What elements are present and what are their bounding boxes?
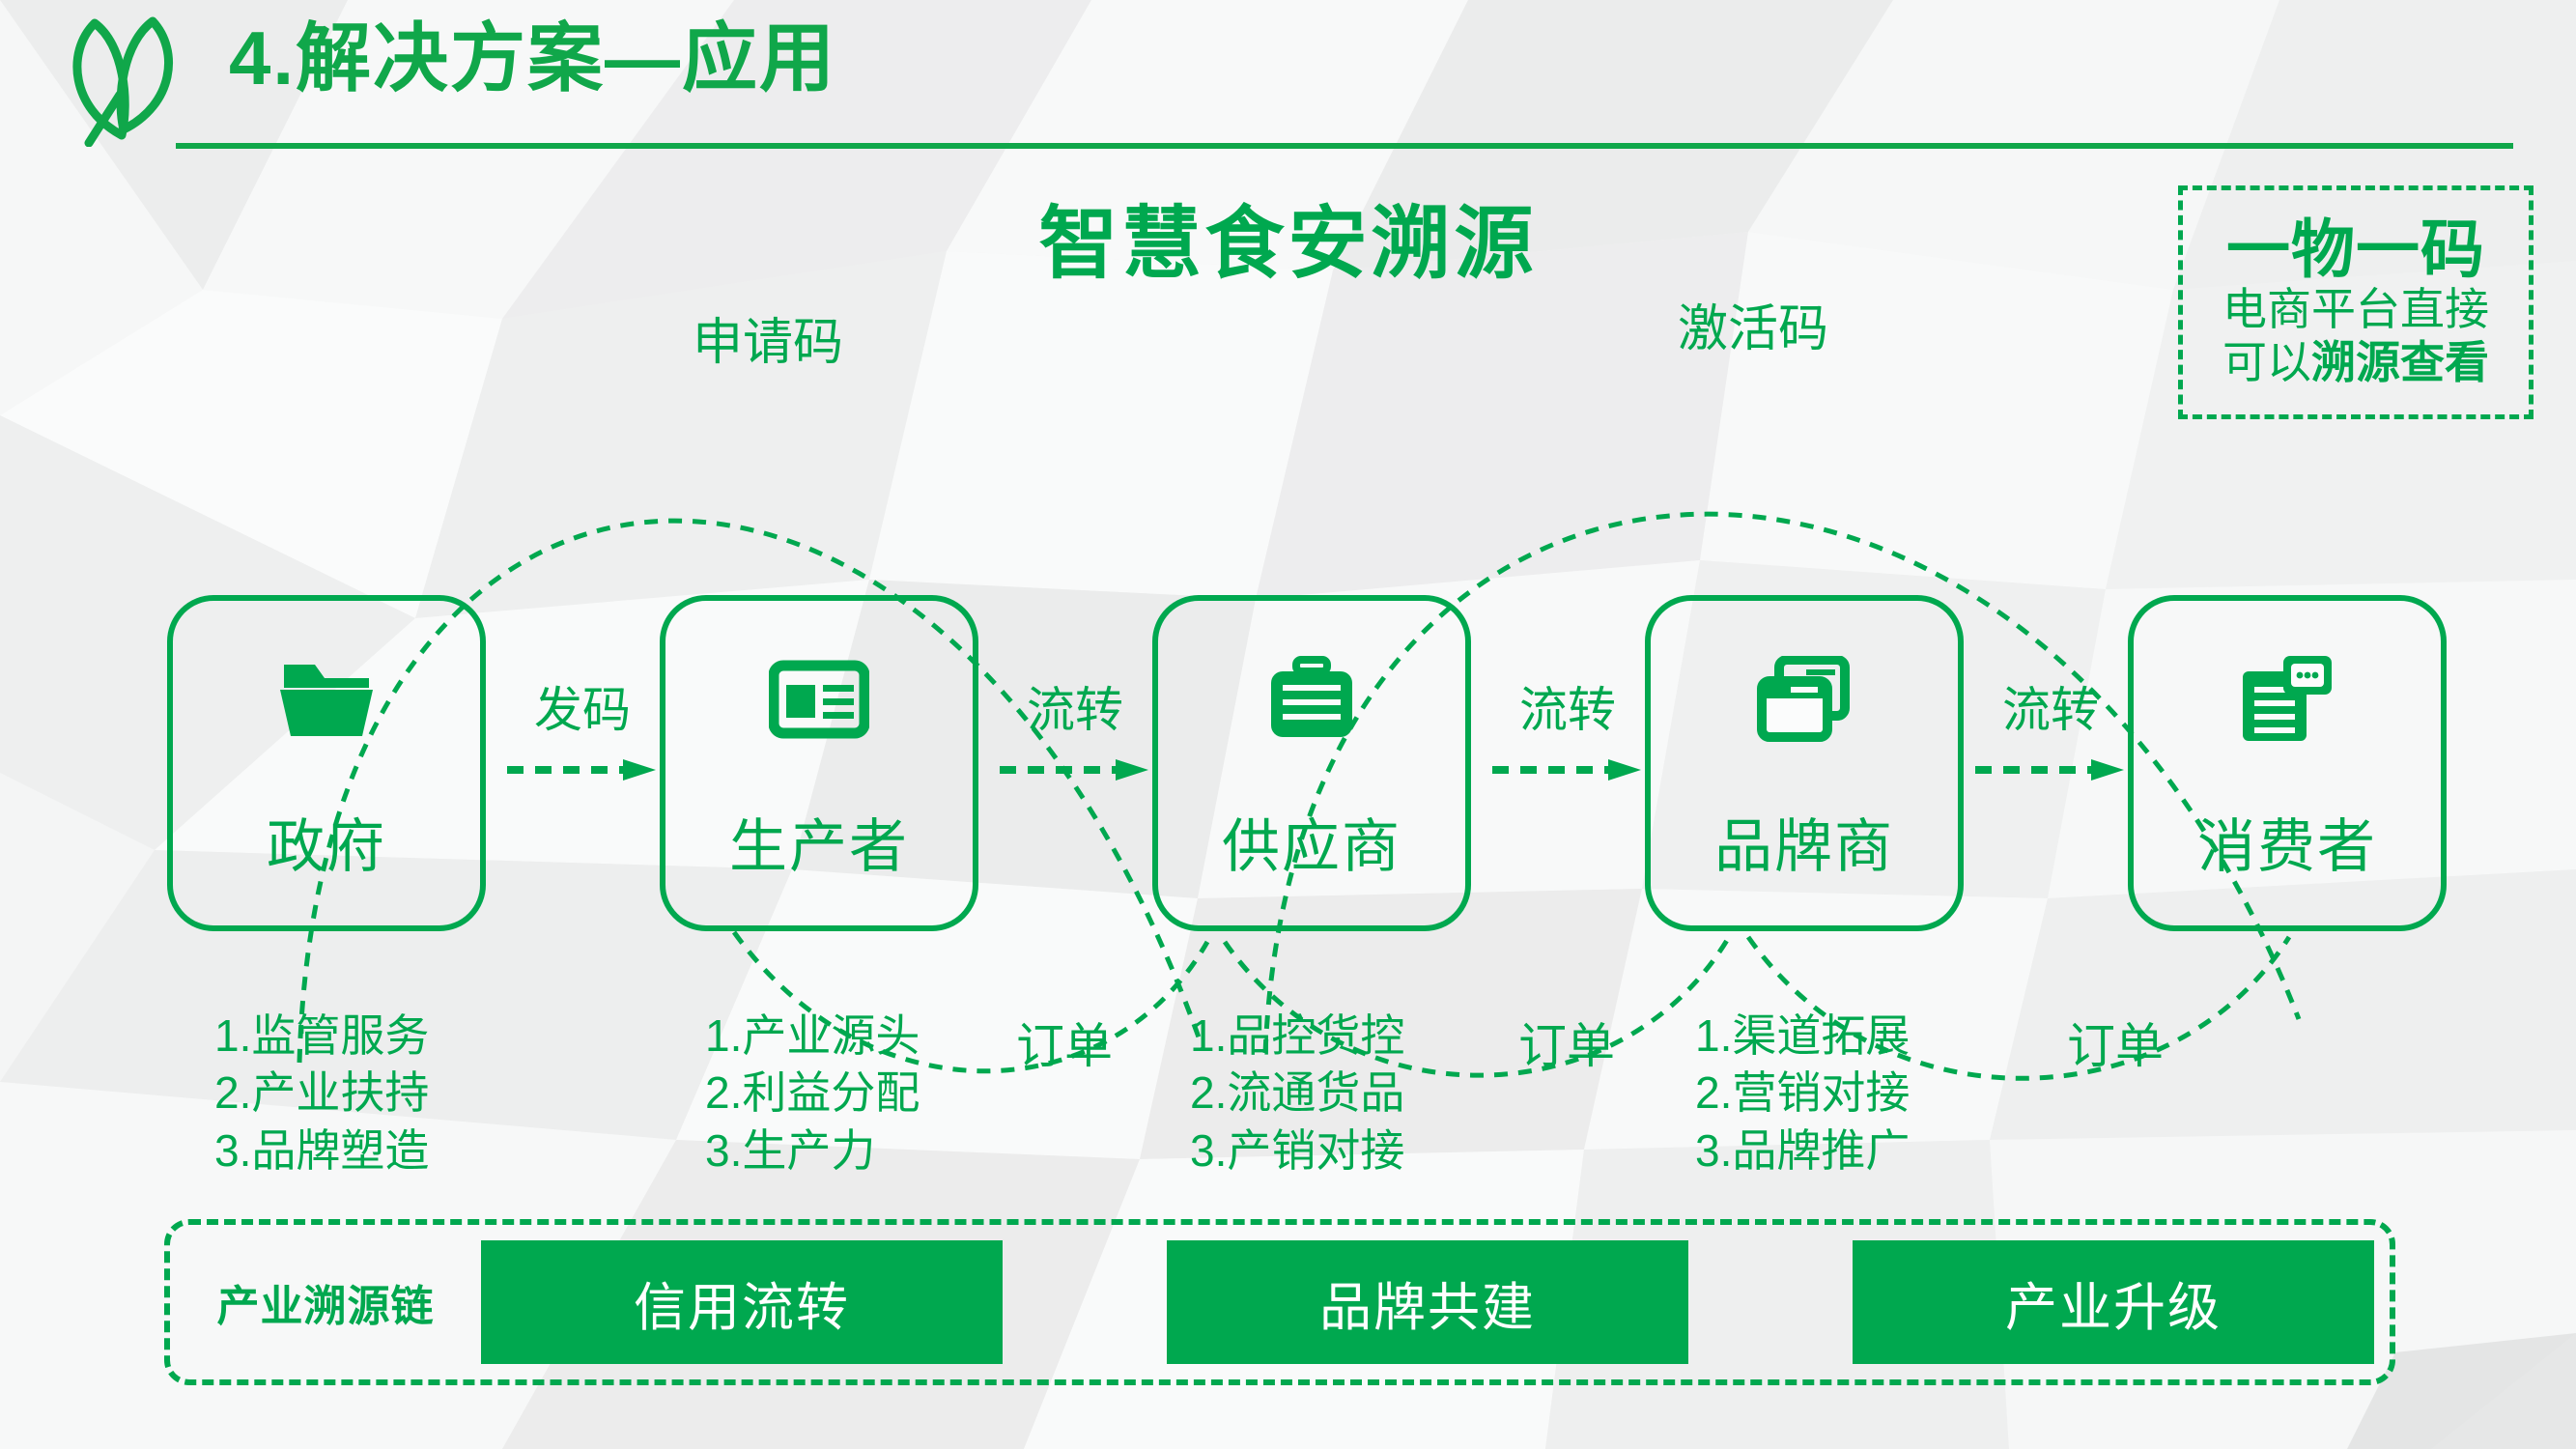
connector-producer-supplier: 流转 (988, 686, 1162, 792)
arc-label-activate-code: 激活码 (1678, 288, 1828, 360)
bullet-list-government: 1.监管服务 2.产业扶持 3.品牌塑造 (214, 1008, 429, 1179)
chain-pill-brand[interactable]: 品牌共建 (1167, 1240, 1688, 1364)
list-item: 2.营销对接 (1695, 1065, 1910, 1122)
connector-brand-consumer: 流转 (1964, 686, 2137, 792)
list-item: 1.产业源头 (705, 1008, 920, 1065)
connector-government-producer: 发码 (495, 686, 669, 792)
folder-icon (278, 653, 375, 746)
flow-node-label: 生产者 (729, 800, 909, 884)
chain-pill-upgrade[interactable]: 产业升级 (1853, 1240, 2374, 1364)
list-item: 3.产销对接 (1190, 1122, 1404, 1179)
id-card-icon (769, 653, 869, 746)
flow-node-label: 供应商 (1222, 800, 1401, 884)
title-divider (176, 143, 2513, 149)
connector-label: 流转 (1964, 686, 2137, 734)
arc-label-order-2: 订单 (1518, 1008, 1615, 1077)
flow-node-label: 政府 (267, 800, 386, 884)
flow-node-brand[interactable]: 品牌商 (1645, 595, 1964, 931)
connector-label: 发码 (495, 686, 669, 734)
windows-stack-icon (1756, 653, 1853, 746)
flow-node-consumer[interactable]: 消费者 (2128, 595, 2447, 931)
chain-label: 产业溯源链 (170, 1271, 481, 1333)
list-item: 3.生产力 (705, 1122, 920, 1179)
dashed-arrow-icon (1973, 757, 2128, 782)
callout-title: 一物一码 (2226, 216, 2485, 283)
leaf-icon (60, 12, 195, 147)
document-chat-icon (2239, 653, 2335, 746)
one-item-one-code-callout: 一物一码 电商平台直接 可以溯源查看 (2178, 185, 2534, 419)
list-item: 2.利益分配 (705, 1065, 920, 1122)
arc-label-apply-code: 申请码 (693, 301, 843, 374)
arc-label-order-1: 订单 (1016, 1008, 1113, 1077)
dashed-arrow-icon (505, 757, 660, 782)
briefcase-icon (1265, 653, 1358, 746)
bullet-list-supplier: 1.品控货控 2.流通货品 3.产销对接 (1190, 1008, 1404, 1179)
callout-line-2: 可以溯源查看 (2222, 336, 2489, 388)
bullet-list-brand: 1.渠道拓展 2.营销对接 3.品牌推广 (1695, 1008, 1910, 1179)
list-item: 1.品控货控 (1190, 1008, 1404, 1065)
callout-line-2-plain: 可以 (2222, 337, 2311, 387)
bullet-list-producer: 1.产业源头 2.利益分配 3.生产力 (705, 1008, 920, 1179)
list-item: 2.产业扶持 (214, 1065, 429, 1122)
connector-supplier-brand: 流转 (1481, 686, 1655, 792)
connector-label: 流转 (988, 686, 1162, 734)
flow-node-supplier[interactable]: 供应商 (1152, 595, 1471, 931)
flow-node-government[interactable]: 政府 (167, 595, 486, 931)
flow-node-producer[interactable]: 生产者 (660, 595, 978, 931)
callout-line-2-bold: 溯源查看 (2311, 337, 2489, 387)
page-title: 4.解决方案—应用 (229, 17, 836, 100)
dashed-arrow-icon (998, 757, 1152, 782)
callout-line-1: 电商平台直接 (2222, 283, 2489, 335)
list-item: 2.流通货品 (1190, 1065, 1404, 1122)
flow-node-label: 消费者 (2197, 800, 2377, 884)
dashed-arrow-icon (1490, 757, 1645, 782)
list-item: 1.监管服务 (214, 1008, 429, 1065)
chain-pill-credit[interactable]: 信用流转 (481, 1240, 1003, 1364)
list-item: 3.品牌推广 (1695, 1122, 1910, 1179)
list-item: 3.品牌塑造 (214, 1122, 429, 1179)
chain-pill-row: 信用流转 品牌共建 产业升级 (481, 1240, 2390, 1364)
list-item: 1.渠道拓展 (1695, 1008, 1910, 1065)
corner-accent (2392, 1333, 2576, 1449)
arc-label-order-3: 订单 (2067, 1008, 2164, 1077)
flow-node-label: 品牌商 (1714, 800, 1894, 884)
connector-label: 流转 (1481, 686, 1655, 734)
industry-chain-bar: 产业溯源链 信用流转 品牌共建 产业升级 (164, 1219, 2395, 1385)
slide-header: 4.解决方案—应用 (0, 0, 2576, 164)
